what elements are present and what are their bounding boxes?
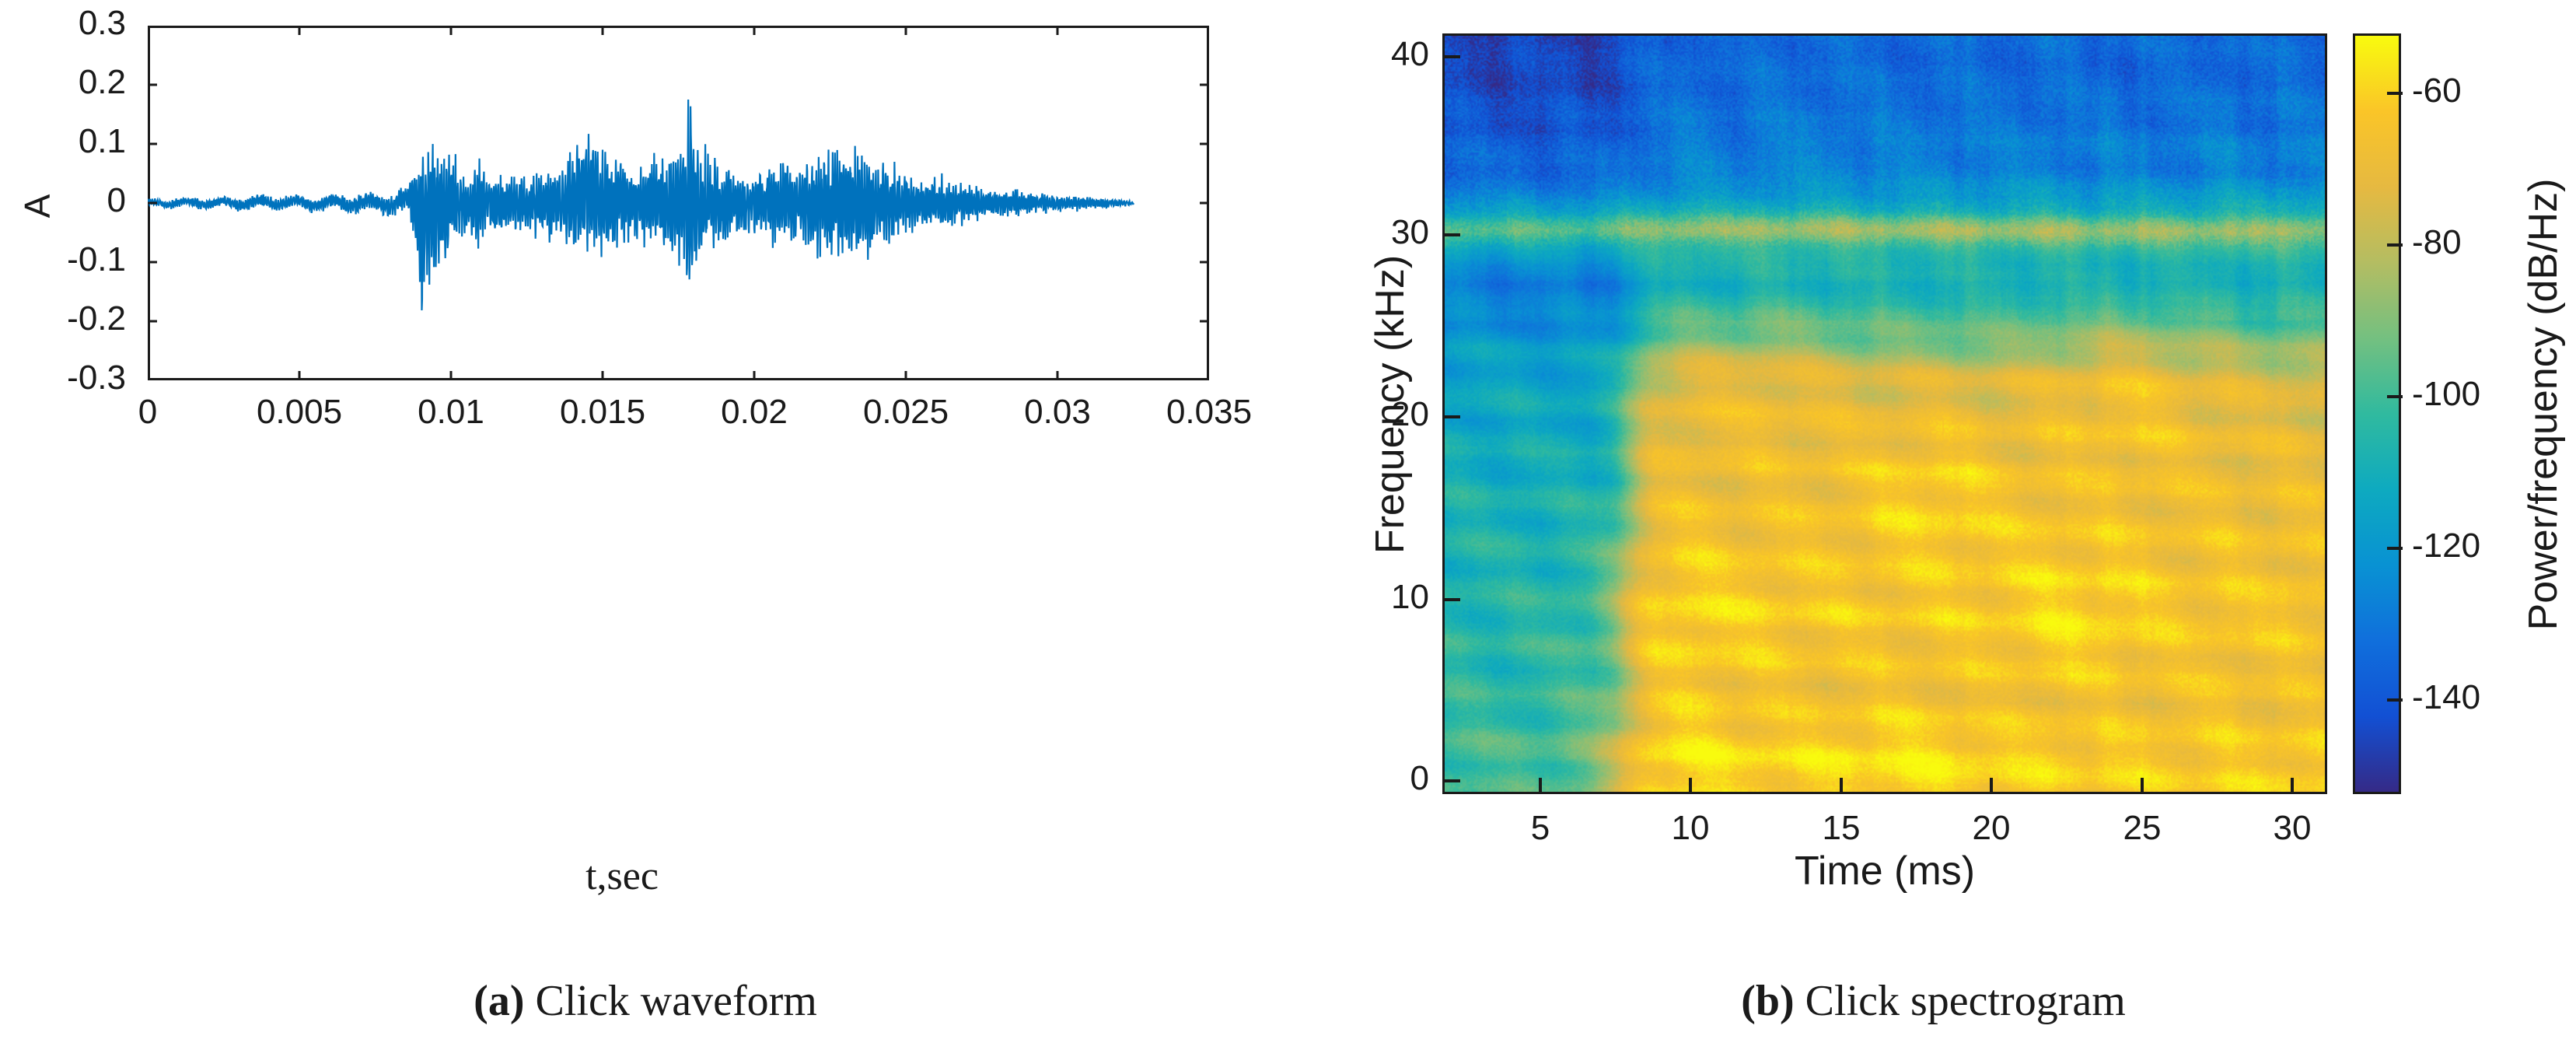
colorbar-tick-mark--100 [2387,395,2403,398]
waveform-ytick-6: -0.3 [9,361,126,395]
spectrogram-ytick-mark-30 [1445,233,1460,236]
colorbar-label: Power/frequency (dB/Hz) [2520,39,2567,770]
colorbar-tick--140: -140 [2412,681,2480,715]
waveform-ytick-1: 0.2 [9,65,126,100]
spectrogram-ytick-mark-0 [1445,779,1460,782]
spectrogram-xtick-mark-20 [1990,778,1993,793]
colorbar-tick--60: -60 [2412,74,2462,108]
colorbar-tick--120: -120 [2412,529,2480,563]
colorbar [2353,33,2401,794]
waveform-y-axis-label: A [16,159,58,253]
caption-a-text: Click waveform [524,977,816,1025]
colorbar-gradient [2355,36,2399,792]
colorbar-tick-mark--140 [2387,698,2403,702]
waveform-ytick-5: -0.2 [9,302,126,336]
panel-a-click-waveform: 0.3 0.2 0.1 0 -0.1 -0.2 -0.3 0 0.005 0.0… [0,0,1291,1050]
colorbar-tick--80: -80 [2412,226,2462,260]
waveform-line [148,100,1134,310]
colorbar-tick-mark--80 [2387,243,2403,247]
caption-b-text: Click spectrogram [1795,977,2126,1025]
colorbar-tick-mark--120 [2387,547,2403,550]
spectrogram-xtick-30: 30 [2226,811,2358,845]
waveform-plot-area [148,26,1209,380]
colorbar-tick--100: -100 [2412,377,2480,411]
spectrogram-plot-frame [1442,33,2327,794]
spectrogram-xtick-mark-15 [1840,778,1843,793]
caption-panel-a: (a) Click waveform [0,976,1291,1026]
waveform-xtick-3: 0.015 [537,395,669,429]
spectrogram-ytick-40: 40 [1312,37,1429,72]
spectrogram-xtick-5: 5 [1474,811,1606,845]
spectrogram-xtick-10: 10 [1624,811,1756,845]
spectrogram-xtick-25: 25 [2076,811,2208,845]
panel-b-click-spectrogram: 40 30 20 10 0 5 10 15 20 25 30 Frequency… [1291,0,2576,1050]
spectrogram-xtick-20: 20 [1925,811,2057,845]
waveform-x-axis-label: t,sec [435,853,809,899]
spectrogram-xtick-15: 15 [1775,811,1907,845]
spectrogram-xtick-mark-30 [2291,778,2294,793]
waveform-xtick-1: 0.005 [233,395,365,429]
spectrogram-ytick-mark-40 [1445,55,1460,58]
spectrogram-xtick-mark-10 [1689,778,1692,793]
waveform-xtick-6: 0.03 [991,395,1124,429]
spectrogram-xtick-mark-25 [2141,778,2144,793]
waveform-xtick-5: 0.025 [840,395,972,429]
caption-panel-b: (b) Click spectrogram [1291,976,2576,1026]
waveform-xtick-2: 0.01 [385,395,517,429]
caption-a-marker: (a) [474,977,524,1025]
caption-b-marker: (b) [1741,977,1794,1025]
spectrogram-ytick-mark-10 [1445,598,1460,601]
spectrogram-ytick-mark-20 [1445,415,1460,418]
spectrogram-ytick-0: 0 [1312,761,1429,796]
waveform-xtick-7: 0.035 [1143,395,1275,429]
colorbar-tick-mark--60 [2387,92,2403,95]
waveform-ytick-0: 0.3 [9,6,126,40]
spectrogram-image [1445,36,2327,794]
waveform-xtick-0: 0 [82,395,214,429]
figure-root: 0.3 0.2 0.1 0 -0.1 -0.2 -0.3 0 0.005 0.0… [0,0,2576,1050]
spectrogram-y-axis-label: Frequency (kHz) [1367,163,1414,646]
spectrogram-xtick-mark-5 [1539,778,1542,793]
spectrogram-x-axis-label: Time (ms) [1675,848,2095,894]
waveform-ytick-2: 0.1 [9,124,126,159]
waveform-xtick-4: 0.02 [688,395,820,429]
